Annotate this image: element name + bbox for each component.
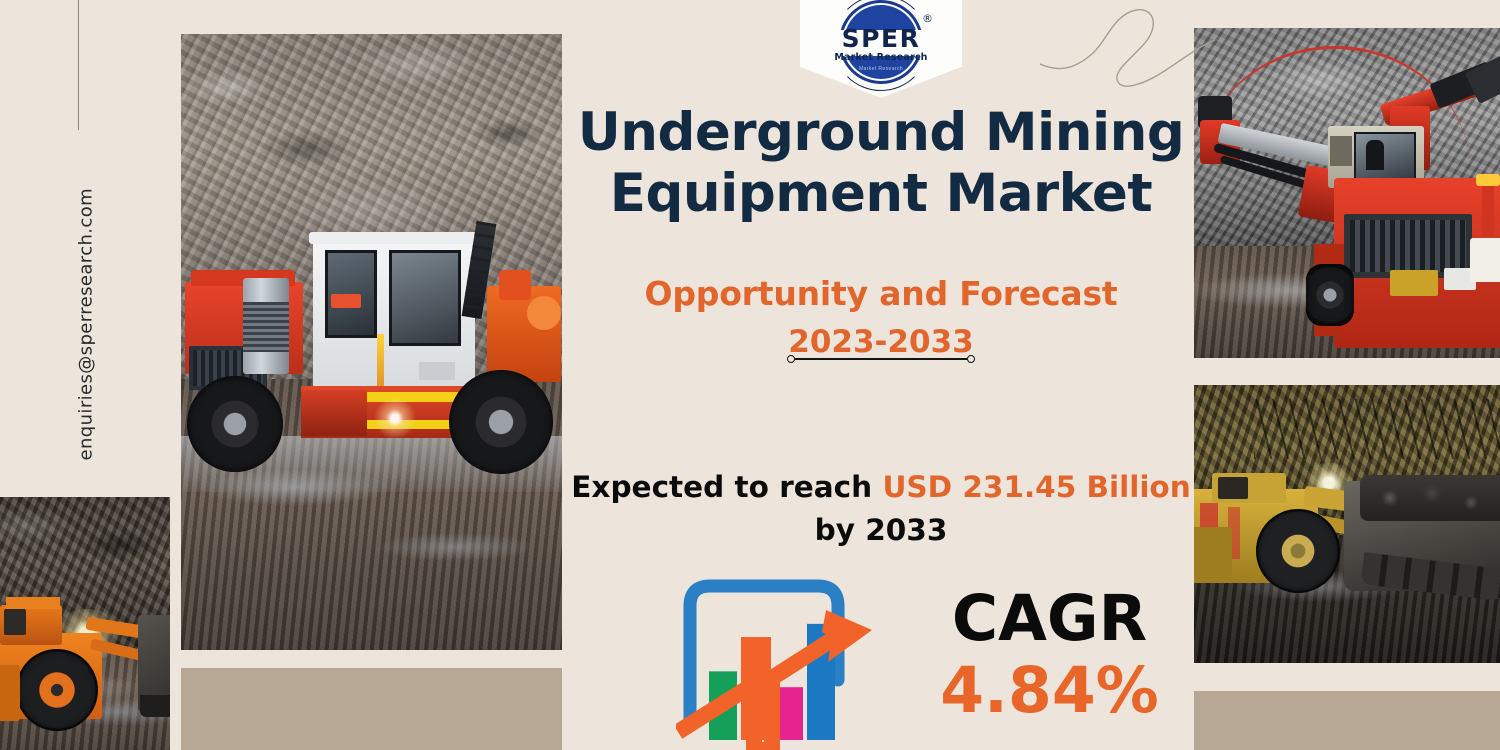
- page-title: Underground Mining Equipment Market: [566, 103, 1196, 225]
- cagr-block: CAGR 4.84%: [676, 570, 1196, 750]
- cagr-label: CAGR: [903, 586, 1196, 652]
- title-line-2: Equipment Market: [566, 164, 1196, 225]
- forecast-suffix: by 2033: [815, 513, 948, 547]
- decorative-rule: [566, 355, 1196, 363]
- headline-column: Underground Mining Equipment Market Oppo…: [566, 0, 1196, 750]
- infographic-canvas: enquiries@sperresearch.com: [0, 0, 1500, 750]
- rule-line: [795, 358, 967, 360]
- photo-underground-mining-truck: [181, 34, 562, 650]
- rule-dot-right: [967, 355, 975, 363]
- cagr-value: 4.84%: [903, 658, 1196, 724]
- contact-email[interactable]: enquiries@sperresearch.com: [76, 161, 97, 461]
- forecast-prefix: Expected to reach: [571, 470, 872, 504]
- growth-chart-icon: [676, 570, 891, 750]
- subtitle: Opportunity and Forecast: [566, 274, 1196, 313]
- photo-orange-underground-loader: [0, 497, 170, 750]
- forecast-statement: Expected to reach USD 231.45 Billion by …: [566, 466, 1196, 552]
- photo-red-drill-rig: [1194, 28, 1500, 358]
- forecast-value: USD 231.45 Billion: [882, 470, 1190, 504]
- rule-dot-left: [787, 355, 795, 363]
- tan-block-left: [181, 668, 562, 750]
- tan-block-right: [1194, 691, 1500, 750]
- rail-divider-line: [78, 0, 79, 130]
- email-rail: enquiries@sperresearch.com: [58, 0, 98, 500]
- title-line-1: Underground Mining: [566, 103, 1196, 164]
- cagr-text-block: CAGR 4.84%: [891, 570, 1196, 724]
- photo-yellow-coal-loader: [1194, 385, 1500, 663]
